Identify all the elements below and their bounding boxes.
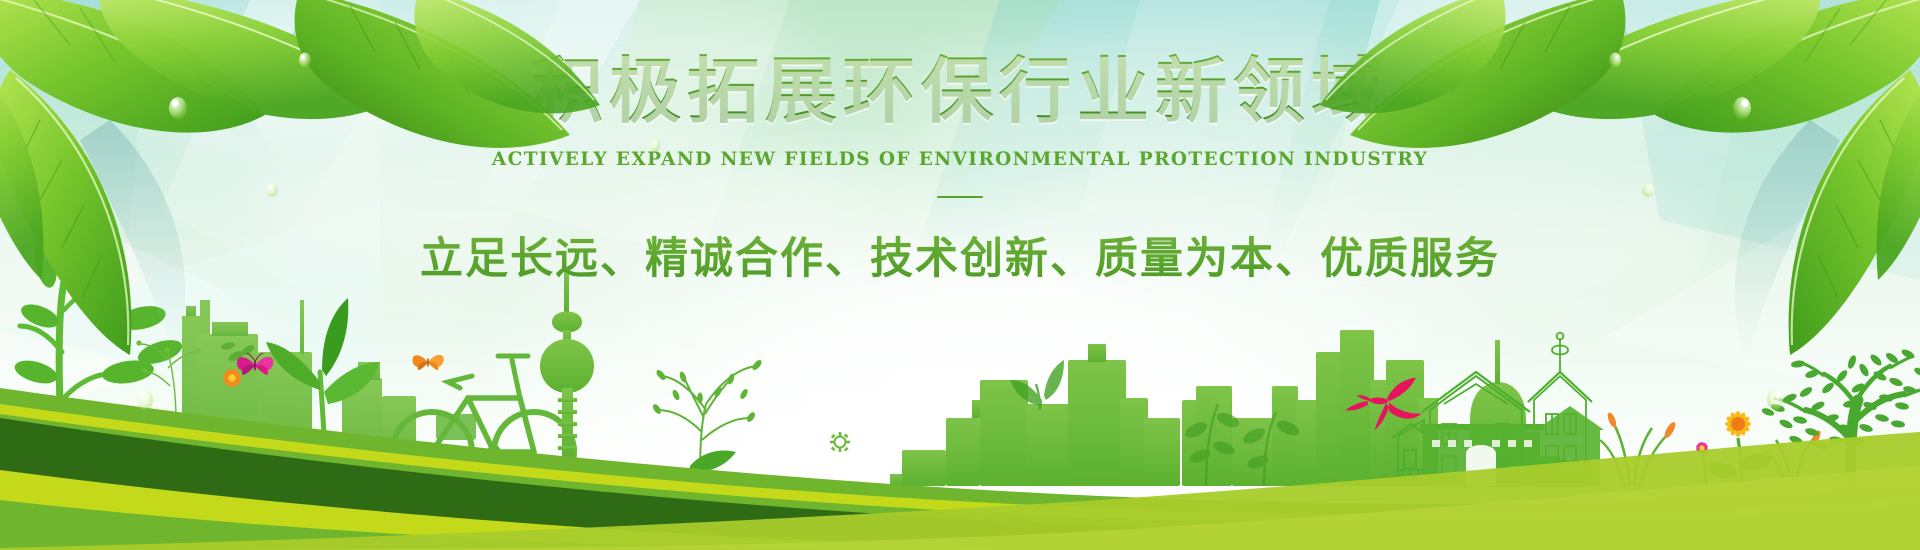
leaf-cluster-top-right xyxy=(0,0,1920,550)
environmental-protection-banner: 积极拓展环保行业新领域 ACTIVELY EXPAND NEW FIELDS O… xyxy=(0,0,1920,550)
